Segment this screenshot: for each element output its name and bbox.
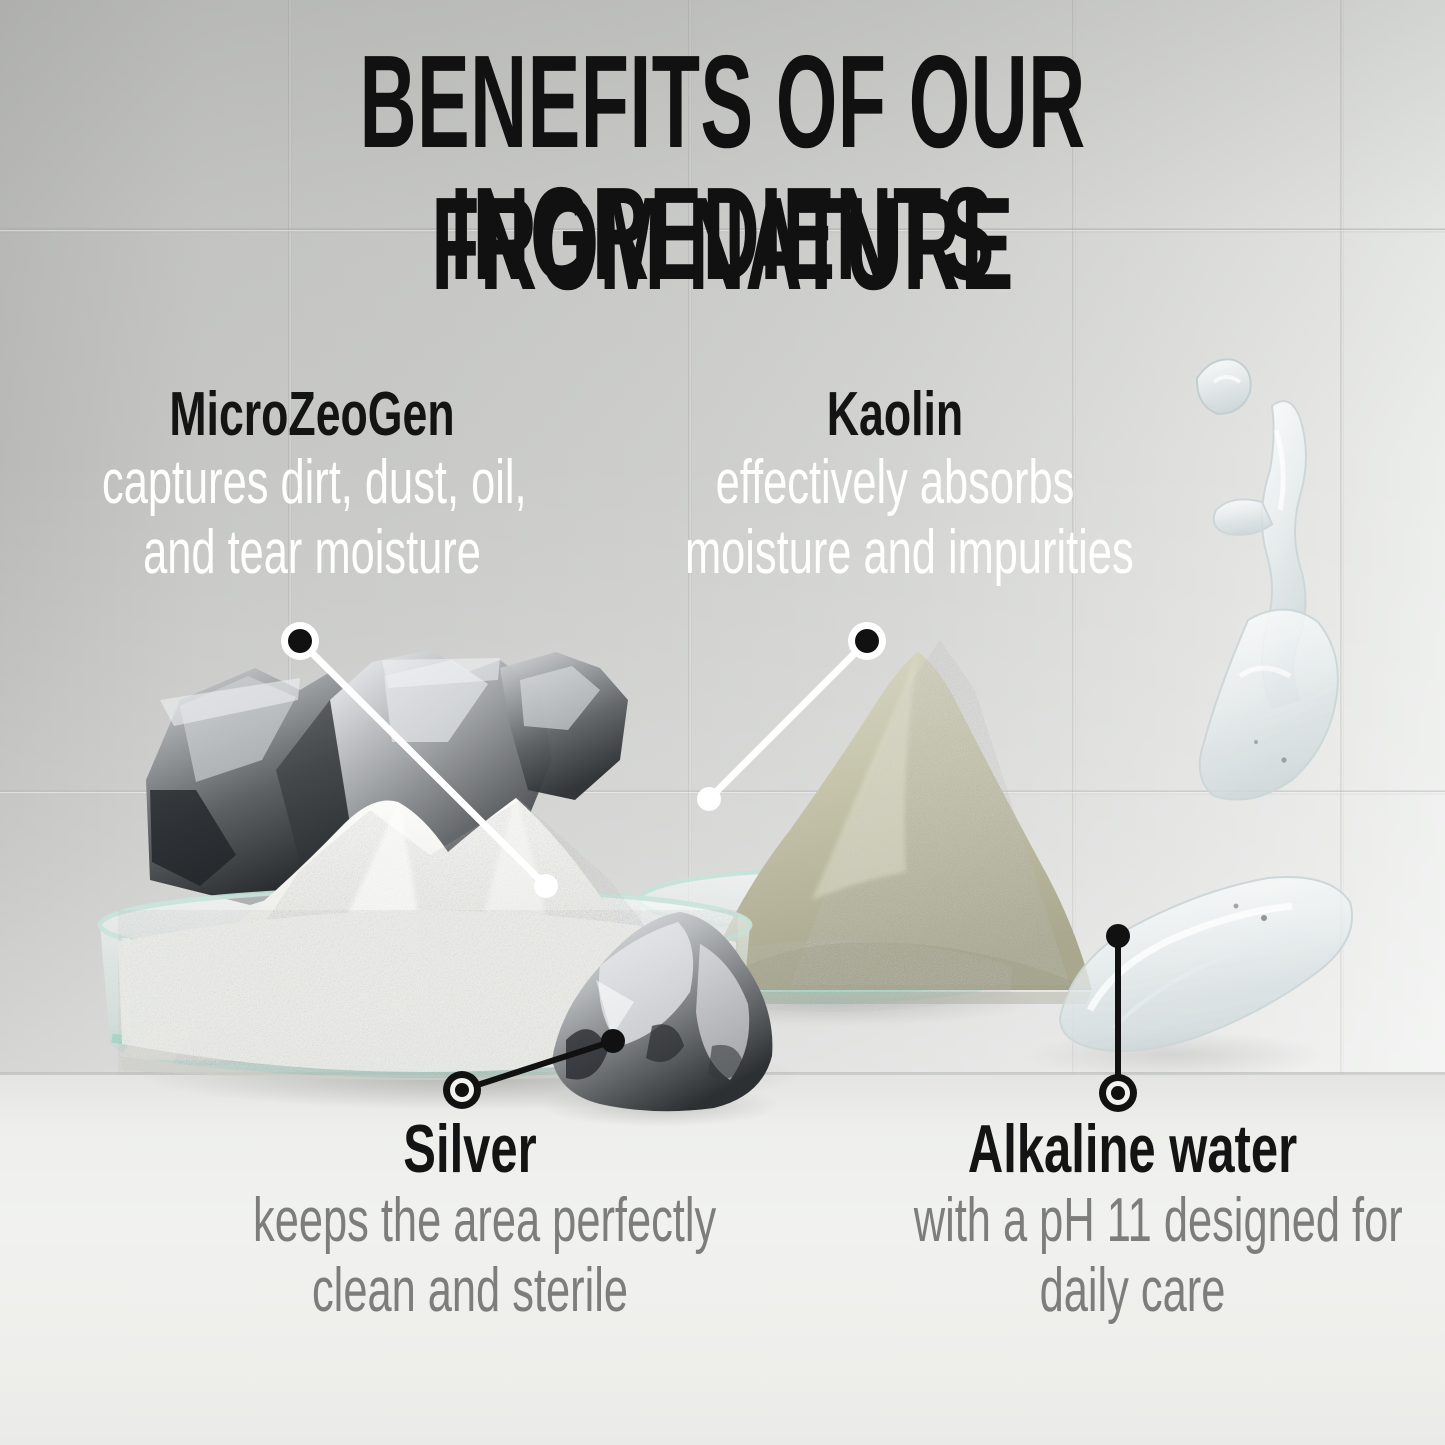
ingredient-name-microzeogen: MicroZeoGen: [96, 382, 528, 448]
ingredient-label-silver: Silver keeps the area perfectly clean an…: [160, 1112, 780, 1326]
ingredient-name-kaolin: Kaolin: [679, 382, 1111, 448]
ingredient-label-kaolin: Kaolin effectively absorbs moisture and …: [595, 382, 1195, 588]
infographic-canvas: BENEFITS OF OUR INGREDIENTS FROM NATURE …: [0, 0, 1445, 1445]
ingredient-desc-line: moisture and impurities: [685, 518, 1105, 588]
ingredient-label-microzeogen: MicroZeoGen captures dirt, dust, oil, an…: [12, 382, 612, 588]
ingredient-name-silver: Silver: [247, 1112, 693, 1186]
ingredient-name-alkaline-water: Alkaline water: [908, 1112, 1358, 1186]
ingredient-desc-line: keeps the area perfectly: [253, 1186, 687, 1256]
ingredient-desc-line: captures dirt, dust, oil,: [102, 448, 522, 518]
ingredient-desc-line: daily care: [914, 1256, 1352, 1326]
page-title-line-2: FROM NATURE: [289, 178, 1156, 310]
ingredient-desc-line: clean and sterile: [253, 1256, 687, 1326]
ingredient-desc-line: with a pH 11 designed for: [914, 1186, 1352, 1256]
ingredient-desc-line: effectively absorbs: [685, 448, 1105, 518]
ingredient-label-alkaline-water: Alkaline water with a pH 11 designed for…: [820, 1112, 1445, 1326]
ingredient-desc-line: and tear moisture: [102, 518, 522, 588]
